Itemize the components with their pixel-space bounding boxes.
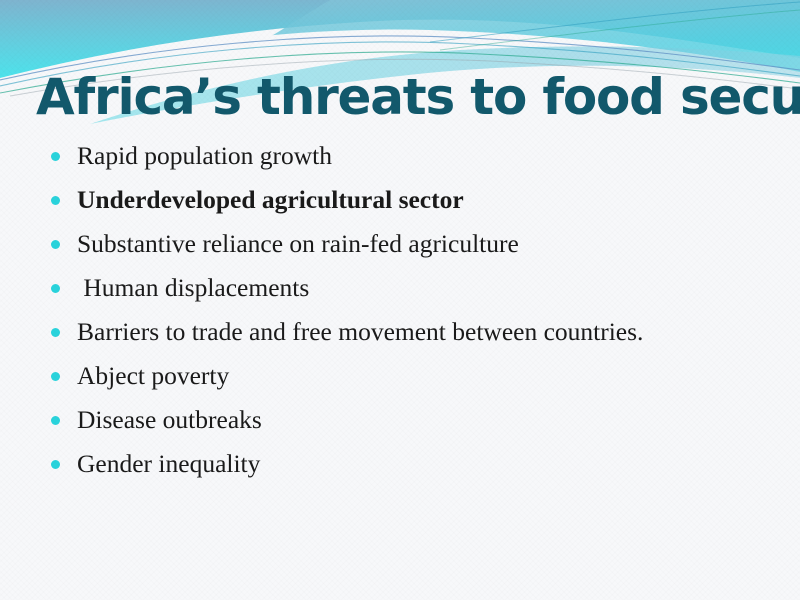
bullet-text: Rapid population growth (77, 136, 744, 176)
bullet-text: Gender inequality (77, 444, 744, 484)
bullet-item: Rapid population growth (44, 136, 744, 176)
bullet-dot-icon (51, 240, 60, 249)
bullet-item: Barriers to trade and free movement betw… (44, 312, 744, 352)
bullet-item: Human displacements (44, 268, 744, 308)
bullet-dot-icon (51, 284, 60, 293)
bullet-item: Gender inequality (44, 444, 744, 484)
bullet-item: Underdeveloped agricultural sector (44, 180, 744, 220)
bullet-text: Human displacements (77, 268, 744, 308)
bullet-dot-icon (51, 372, 60, 381)
bullet-text: Underdeveloped agricultural sector (77, 180, 744, 220)
bullet-text: Disease outbreaks (77, 400, 744, 440)
bullet-dot-icon (51, 460, 60, 469)
bullet-item: Abject poverty (44, 356, 744, 396)
bullet-dot-icon (51, 416, 60, 425)
bullet-dot-icon (51, 328, 60, 337)
bullet-text: Abject poverty (77, 356, 744, 396)
bullet-dot-icon (51, 152, 60, 161)
bullet-text: Substantive reliance on rain-fed agricul… (77, 224, 744, 264)
slide-bullet-list: Rapid population growth Underdeveloped a… (44, 136, 744, 488)
presentation-slide: Africa’s threats to food security Rapid … (0, 0, 800, 600)
bullet-item: Disease outbreaks (44, 400, 744, 440)
bullet-text: Barriers to trade and free movement betw… (77, 312, 744, 352)
slide-title: Africa’s threats to food security (36, 68, 776, 126)
bullet-item: Substantive reliance on rain-fed agricul… (44, 224, 744, 264)
bullet-dot-icon (51, 196, 60, 205)
